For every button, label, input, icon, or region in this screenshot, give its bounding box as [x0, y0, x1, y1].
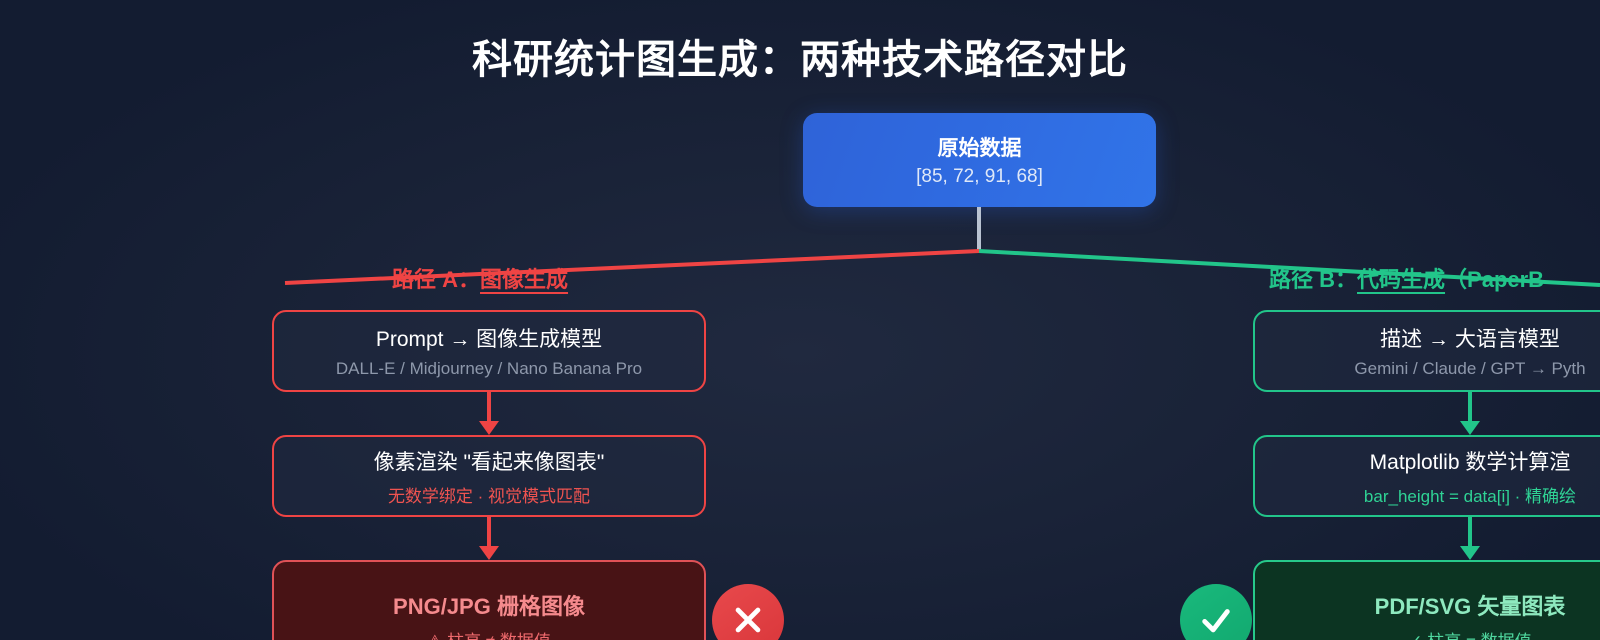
- arrow-path-a-1: [487, 392, 491, 423]
- path-b-prefix: 路径 B：: [1269, 267, 1357, 292]
- page-title: 科研统计图生成：两种技术路径对比: [0, 27, 1600, 85]
- card-path-a-result-subtitle: ⚠ 柱高 ≠ 数据值: [427, 627, 551, 640]
- card-path-a-result[interactable]: PNG/JPG 栅格图像 ⚠ 柱高 ≠ 数据值: [272, 560, 706, 640]
- path-a-name: 图像生成: [480, 267, 568, 292]
- card-path-a-step-1-title: Prompt → 图像生成模型: [376, 323, 602, 353]
- node-raw-data-values: [85, 72, 91, 68]: [916, 166, 1043, 188]
- check-icon: [1180, 584, 1252, 640]
- card-path-b-step-2[interactable]: Matplotlib 数学计算渲 bar_height = data[i] · …: [1253, 435, 1600, 517]
- card-path-a-step-2[interactable]: 像素渲染 "看起来像图表" 无数学绑定 · 视觉模式匹配: [272, 435, 706, 517]
- node-raw-data-label: 原始数据: [938, 132, 1022, 162]
- path-a-prefix: 路径 A：: [392, 267, 480, 292]
- card-path-a-step-2-title: 像素渲染 "看起来像图表": [374, 446, 605, 476]
- arrow-path-b-2: [1468, 517, 1472, 548]
- card-path-b-result-subtitle: ✓ 柱高 = 数据值: [1408, 627, 1531, 640]
- branch-line-a: [285, 251, 979, 283]
- card-path-a-result-title: PNG/JPG 栅格图像: [393, 589, 585, 621]
- path-b-label: 路径 B：代码生成（PaperB: [1269, 262, 1544, 294]
- node-raw-data[interactable]: 原始数据 [85, 72, 91, 68]: [803, 113, 1156, 207]
- card-path-a-step-1[interactable]: Prompt → 图像生成模型 DALL-E / Midjourney / Na…: [272, 310, 706, 392]
- card-path-a-step-1-subtitle: DALL-E / Midjourney / Nano Banana Pro: [336, 359, 642, 379]
- arrow-path-b-1: [1468, 392, 1472, 423]
- connector-stem: [977, 207, 981, 251]
- card-path-b-step-1-subtitle: Gemini / Claude / GPT → Pyth: [1354, 359, 1585, 379]
- card-path-b-result-title: PDF/SVG 矢量图表: [1375, 589, 1566, 621]
- card-path-b-step-1-title: 描述 → 大语言模型: [1380, 323, 1560, 353]
- path-a-label: 路径 A：图像生成: [392, 262, 568, 294]
- card-path-b-step-2-title: Matplotlib 数学计算渲: [1370, 446, 1571, 476]
- card-path-b-result[interactable]: PDF/SVG 矢量图表 ✓ 柱高 = 数据值: [1253, 560, 1600, 640]
- arrow-path-a-2: [487, 517, 491, 548]
- path-b-suffix: （PaperB: [1445, 267, 1544, 292]
- cross-icon: [712, 584, 784, 640]
- card-path-b-step-2-subtitle: bar_height = data[i] · 精确绘: [1364, 482, 1576, 507]
- diagram-canvas: 科研统计图生成：两种技术路径对比 原始数据 [85, 72, 91, 68] 路…: [0, 0, 1600, 640]
- card-path-a-step-2-subtitle: 无数学绑定 · 视觉模式匹配: [388, 482, 590, 507]
- card-path-b-step-1[interactable]: 描述 → 大语言模型 Gemini / Claude / GPT → Pyth: [1253, 310, 1600, 392]
- path-b-name: 代码生成: [1357, 267, 1445, 292]
